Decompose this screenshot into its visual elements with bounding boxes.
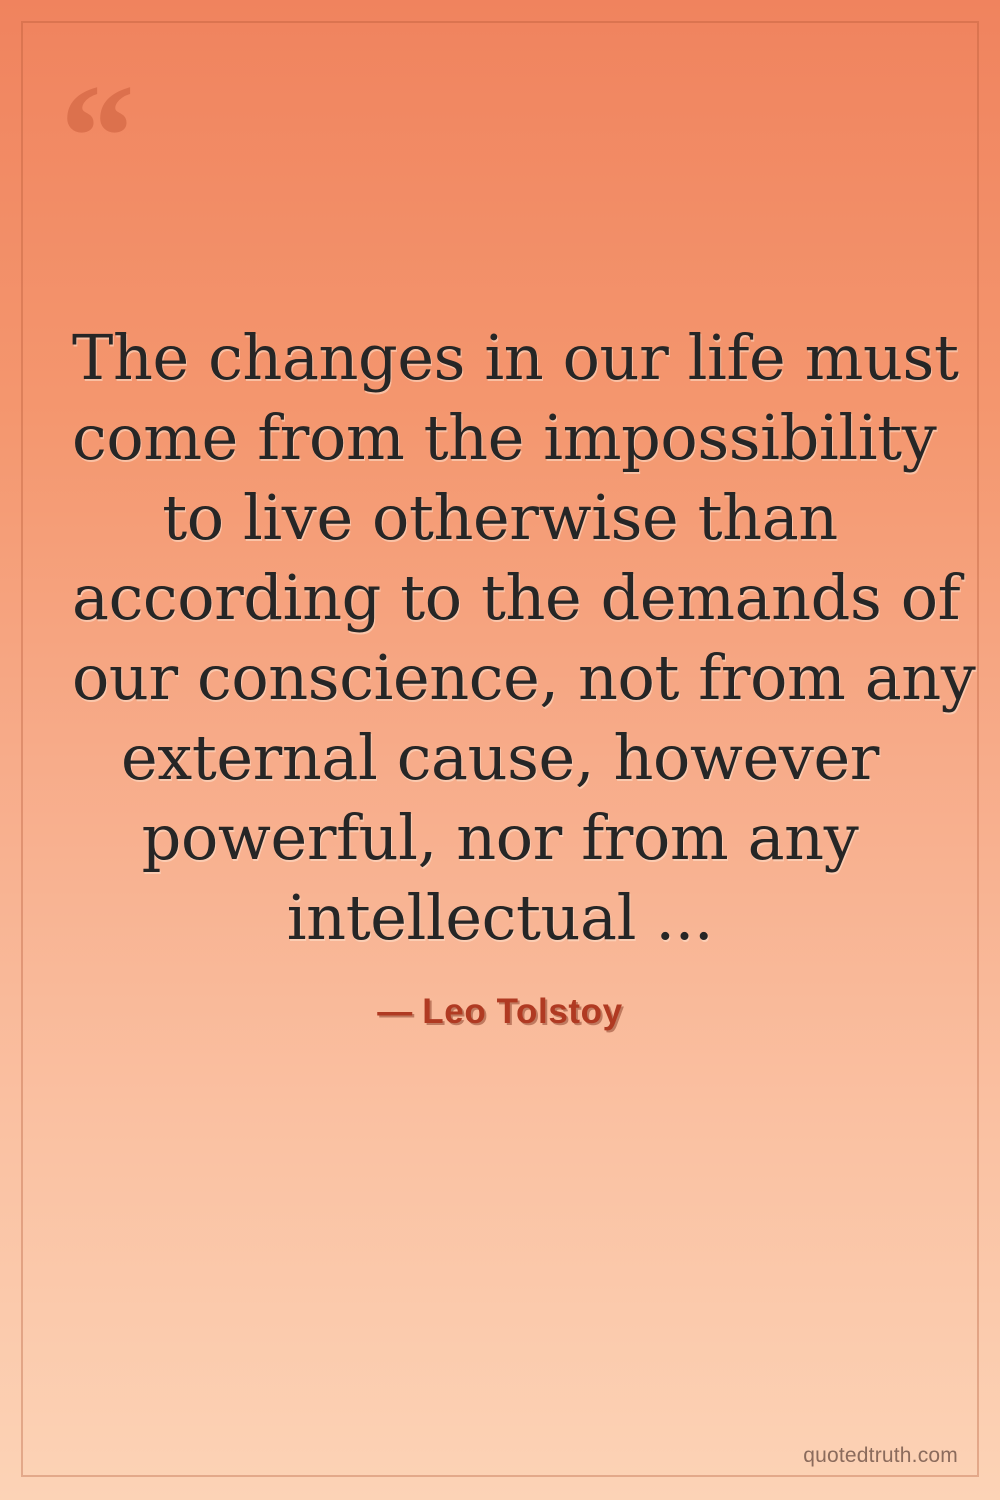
quote-line: our conscience, not from any bbox=[72, 638, 928, 718]
quote-line: according to the demands of bbox=[72, 558, 928, 638]
quote-text: The changes in our life must come from t… bbox=[0, 318, 1000, 958]
attribution-author: Leo Tolstoy bbox=[422, 992, 622, 1031]
quote-line: The changes in our life must bbox=[72, 318, 928, 398]
opening-quotation-mark-icon: “ bbox=[60, 62, 135, 212]
quote-card: “ The changes in our life must come from… bbox=[0, 0, 1000, 1500]
site-watermark: quotedtruth.com bbox=[803, 1444, 958, 1468]
quote-line: come from the impossibility bbox=[72, 398, 928, 478]
quote-attribution: —Leo Tolstoy bbox=[0, 992, 1000, 1032]
attribution-dash: — bbox=[377, 992, 422, 1031]
quote-line: intellectual ... bbox=[72, 878, 928, 958]
quote-line: powerful, nor from any bbox=[72, 798, 928, 878]
quote-line: to live otherwise than bbox=[72, 478, 928, 558]
quote-line: external cause, however bbox=[72, 718, 928, 798]
